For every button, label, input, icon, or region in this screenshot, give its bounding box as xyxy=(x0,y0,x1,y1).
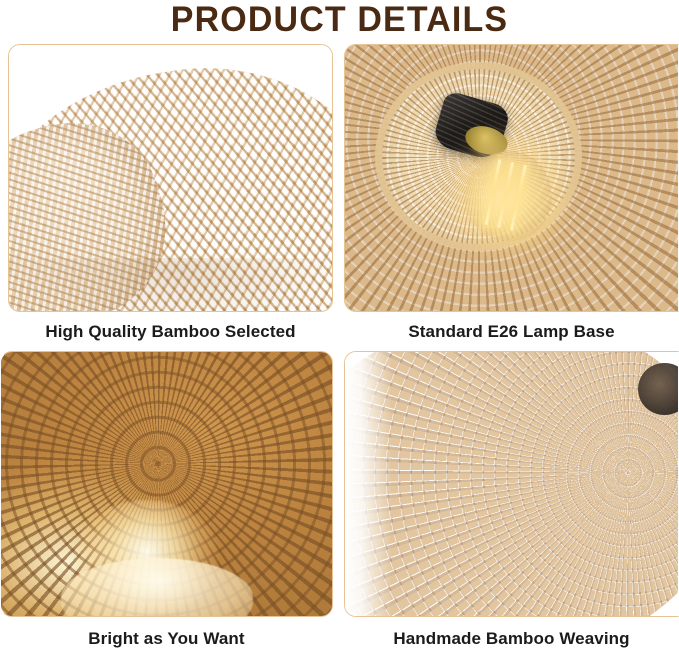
product-details-page: PRODUCT DETAILS High Quality Bamboo Sele… xyxy=(0,0,679,651)
detail-panel-brightness xyxy=(0,351,333,617)
detail-panel-handmade-weaving xyxy=(344,351,679,617)
detail-panel-lamp-base xyxy=(344,44,679,312)
handmade-weaving-detail-image xyxy=(345,352,678,616)
e26-socket-bulb-image xyxy=(345,45,678,311)
page-title: PRODUCT DETAILS xyxy=(10,0,669,41)
panel-caption-bamboo-selected: High Quality Bamboo Selected xyxy=(8,322,333,342)
weave-left-fade xyxy=(345,352,392,616)
bamboo-soft-shadow xyxy=(9,258,332,311)
detail-panel-bamboo-selected xyxy=(8,44,333,312)
panel-caption-lamp-base: Standard E26 Lamp Base xyxy=(344,322,679,342)
panel-caption-brightness: Bright as You Want xyxy=(0,629,333,649)
bulb-glow xyxy=(445,135,578,252)
lamp-illuminated-image xyxy=(1,352,332,616)
panel-caption-handmade-weaving: Handmade Bamboo Weaving xyxy=(344,629,679,649)
bamboo-weave-closeup-image xyxy=(9,45,332,311)
spiral-weave-shape xyxy=(345,352,678,616)
